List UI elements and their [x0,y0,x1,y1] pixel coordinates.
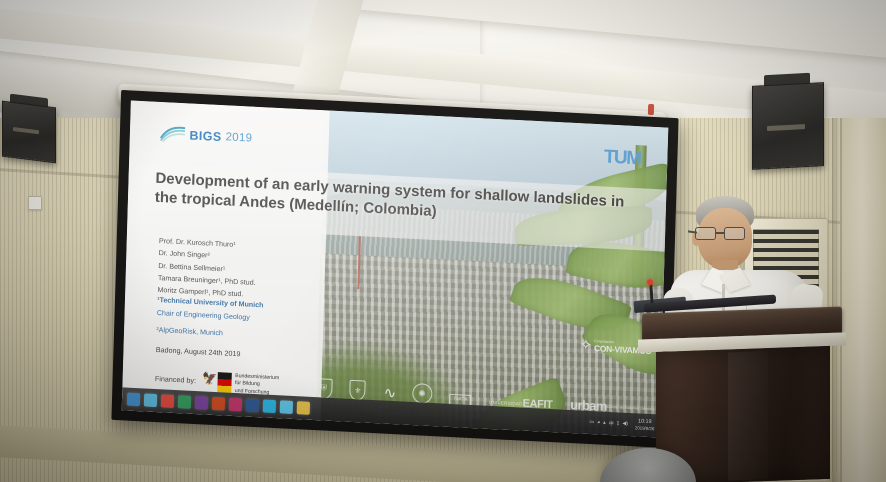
eyeglasses [694,227,752,240]
battery-icon[interactable]: ▯ [617,421,620,427]
german-flag-icon [218,372,233,393]
projection-screen: BIGS 2019 TUM Development of an early wa… [111,90,678,448]
excel-icon[interactable] [178,395,191,409]
word-icon[interactable] [246,398,259,412]
taskbar-spacer [314,408,586,422]
skype-icon[interactable] [263,399,276,413]
wall-switch[interactable] [28,196,42,210]
lectern-reflection [728,351,768,480]
financed-by-label: Financed by: [155,369,197,385]
recorder-icon[interactable] [161,394,174,408]
onenote-icon[interactable] [195,396,208,410]
presentation-slide: BIGS 2019 TUM Development of an early wa… [122,100,669,437]
right-wall-column [840,118,886,482]
tum-logo: TUM [604,146,641,170]
language-icon[interactable]: 中 [609,420,614,427]
affiliation-list: ¹Technical University of Munich Chair of… [156,294,335,345]
explorer-icon[interactable] [297,401,310,415]
wall-speaker-left [2,101,56,164]
show-hidden-icons-icon[interactable]: ▴ [603,420,606,426]
system-tray[interactable]: ▭ ◕ ▴ 中 ▯ ◀) [589,419,631,428]
screen-motor-indicator [648,104,654,115]
screen-surface: BIGS 2019 TUM Development of an early wa… [122,100,669,437]
wave-swoosh-icon [159,125,185,143]
speaker-vent [767,124,805,131]
wall-speaker-right [752,82,824,170]
powerpoint-icon[interactable] [212,397,225,411]
bigs-logo-text: BIGS [189,128,222,144]
speaker-vent [13,127,39,134]
display-icon[interactable]: ▭ [589,419,594,425]
bigs-logo-year: 2019 [225,131,252,144]
glasses-temple [688,230,697,233]
german-eagle-icon: 🦅 [202,371,215,388]
lens-right [724,227,745,240]
sunburst-icon: ✧ [579,338,592,354]
network-icon[interactable]: ◕ [597,420,600,426]
lens-left [695,227,716,240]
volume-icon[interactable]: ◀) [622,421,628,427]
access-icon[interactable] [229,398,242,412]
browser-icon[interactable] [127,392,140,406]
conference-room-scene: BIGS 2019 TUM Development of an early wa… [0,0,886,482]
folder-icon[interactable] [144,393,157,407]
edge-icon[interactable] [280,400,293,414]
glasses-bridge [716,232,724,234]
